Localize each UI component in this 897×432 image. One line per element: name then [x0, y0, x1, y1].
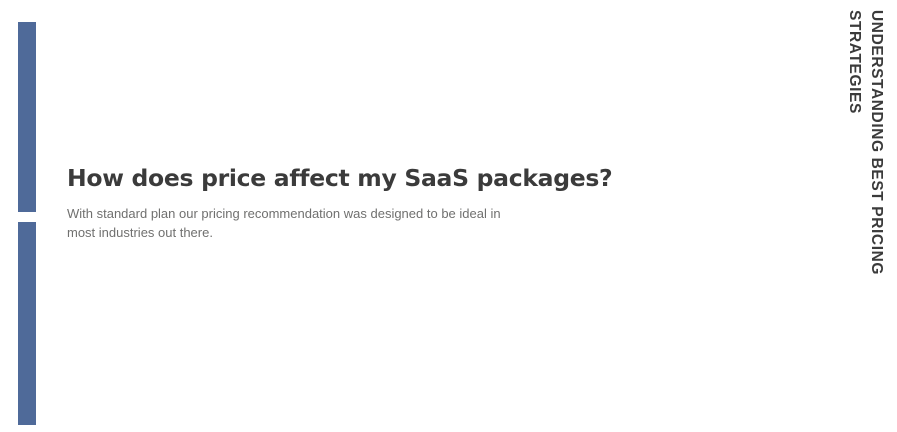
- running-head-line-1: UNDERSTANDING BEST PRICING: [869, 10, 885, 275]
- accent-bar-top-segment: [18, 22, 36, 212]
- accent-bar-bottom-segment: [18, 222, 36, 425]
- running-head-line-2: STRATEGIES: [847, 10, 863, 114]
- slide-content: How does price affect my SaaS packages? …: [67, 163, 587, 242]
- slide-canvas: How does price affect my SaaS packages? …: [0, 0, 897, 432]
- slide-headline: How does price affect my SaaS packages?: [67, 163, 587, 193]
- slide-subcopy: With standard plan our pricing recommend…: [67, 205, 517, 242]
